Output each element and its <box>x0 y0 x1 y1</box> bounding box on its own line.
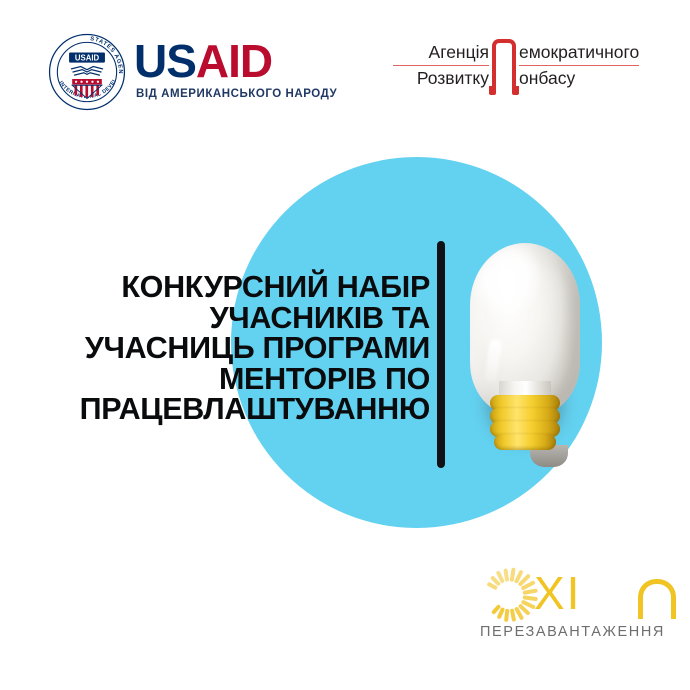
poster-canvas: UNITED STATES AGENCY INTERNATIONAL DEVEL… <box>0 0 690 690</box>
usaid-logo: UNITED STATES AGENCY INTERNATIONAL DEVEL… <box>48 32 328 114</box>
add-logo-line2-right: онбасу <box>519 66 639 91</box>
headline-line-4: МЕНТОРІВ ПО <box>40 364 430 395</box>
usaid-tagline: ВІД АМЕРИКАНСЬКОГО НАРОДУ <box>136 88 337 100</box>
schid-wordmark: ХІ <box>534 565 581 621</box>
add-logo-right-column: емократичного онбасу <box>519 40 639 91</box>
sunburst-ray <box>504 608 510 621</box>
sunburst-icon <box>478 564 540 626</box>
usaid-wordmark-us: US <box>134 35 196 87</box>
headline-text: КОНКУРСНИЙ НАБІР УЧАСНИКІВ ТА УЧАСНИЦЬ П… <box>40 272 430 425</box>
lightbulb-icon <box>466 243 584 463</box>
usaid-wordmark-aid: AID <box>196 35 272 87</box>
schid-d-glyph-icon <box>638 579 676 619</box>
add-logo-line1-right: емократичного <box>519 40 639 65</box>
add-logo-line2-left: Розвитку <box>393 66 489 91</box>
add-logo-left-column: Агенція Розвитку <box>393 40 489 91</box>
vertical-divider-bar <box>437 241 445 468</box>
svg-text:USAID: USAID <box>75 53 100 62</box>
headline-line-3: УЧАСНИЦЬ ПРОГРАМИ <box>40 333 430 364</box>
headline-line-1: КОНКУРСНИЙ НАБІР <box>40 272 430 303</box>
add-logo: Агенція Розвитку емократичного онбасу <box>393 40 668 102</box>
schid-subtitle: ПЕРЕЗАВАНТАЖЕННЯ <box>480 624 665 640</box>
add-logo-d-glyph-icon <box>489 39 519 95</box>
schid-logo: ХІ ПЕРЕЗАВАНТАЖЕННЯ <box>478 562 658 644</box>
usaid-seal-icon: UNITED STATES AGENCY INTERNATIONAL DEVEL… <box>48 33 126 111</box>
usaid-wordmark: USAID <box>134 38 272 84</box>
headline-line-2: УЧАСНИКІВ ТА <box>40 303 430 334</box>
headline-line-5: ПРАЦЕВЛАШТУВАННЮ <box>40 394 430 425</box>
add-logo-line1-left: Агенція <box>393 40 489 65</box>
